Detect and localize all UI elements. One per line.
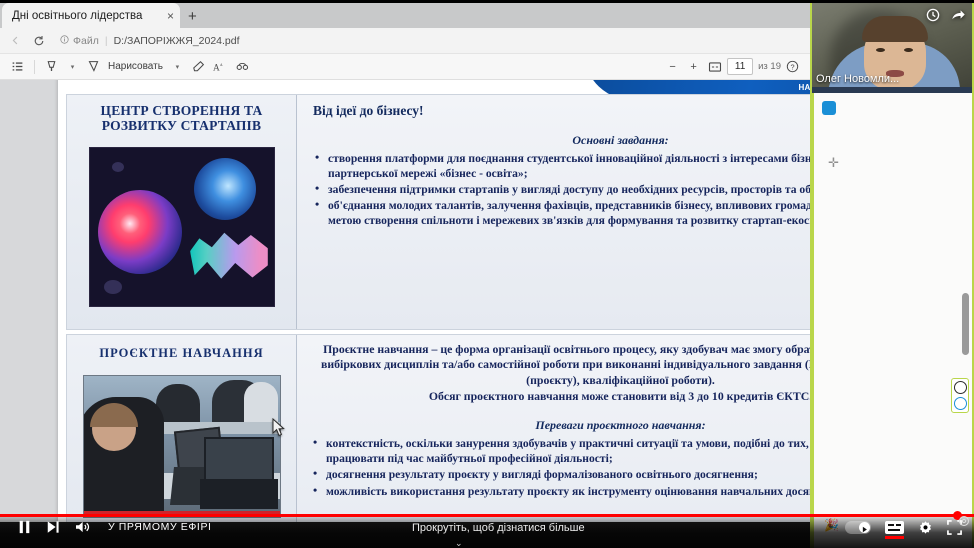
volume-icon[interactable] xyxy=(75,520,91,534)
shared-browser-window: Дні освітнього лідерства × + Файл | xyxy=(0,0,810,522)
progress-bar[interactable] xyxy=(0,514,974,517)
draw-pen-icon[interactable] xyxy=(84,57,103,76)
target-circle-icon[interactable] xyxy=(954,397,967,410)
page-total-label: из 19 xyxy=(758,61,781,72)
new-tab-icon[interactable]: + xyxy=(188,9,197,24)
photo-bg-person-3 xyxy=(244,382,278,422)
participant-eye-left xyxy=(876,48,885,52)
scroll-hint-label: Прокрутіть, щоб дізнатися більше xyxy=(412,522,585,534)
pdf-toolbar-right-group: − + 11 из 19 ? xyxy=(663,57,802,76)
cc-active-underline xyxy=(885,536,904,539)
close-icon[interactable]: × xyxy=(167,10,174,22)
text-size-icon[interactable]: Aᴬ xyxy=(210,57,230,76)
banner-logo-text: НАЦІОНАЛЬНИЙ УНІВЕРСИТЕТ xyxy=(793,84,810,92)
zoom-in-button[interactable]: + xyxy=(684,57,703,76)
settings-gear-icon[interactable] xyxy=(918,520,933,535)
panel-scrollbar[interactable] xyxy=(962,293,969,355)
outline-list-icon[interactable] xyxy=(8,57,27,76)
eraser-icon[interactable] xyxy=(189,57,208,76)
svg-text:ᴬ: ᴬ xyxy=(220,62,223,69)
highlight-icon[interactable] xyxy=(42,57,61,76)
block1-header-cell: ЦЕНТР СТВОРЕННЯ ТА РОЗВИТКУ СТАРТАПІВ xyxy=(67,95,297,329)
art-dust-1 xyxy=(112,162,124,172)
svg-text:?: ? xyxy=(791,62,795,71)
participant-eye-right xyxy=(904,48,913,52)
list-item: досягнення результату проєкту у вигляді … xyxy=(311,467,810,482)
page-number-input[interactable]: 11 xyxy=(727,58,753,75)
move-handle-icon[interactable]: ✛ xyxy=(828,155,839,171)
list-item: контекстність, оскільки занурення здобув… xyxy=(311,436,810,466)
photo-student-hair xyxy=(90,403,138,427)
photo-laptop-2-screen xyxy=(204,437,274,483)
live-badge-label: У ПРЯМОМУ ЕФІРІ xyxy=(108,521,212,533)
art-wave-shape xyxy=(190,226,268,282)
block2-content-cell: Проєктне навчання – це форма організації… xyxy=(297,335,810,522)
cc-line-3 xyxy=(888,529,900,531)
participant-video-tile[interactable]: Олег Новомли... xyxy=(812,0,974,93)
fit-page-icon[interactable] xyxy=(705,57,725,76)
back-arrow-icon[interactable] xyxy=(6,32,24,50)
help-icon[interactable]: ? xyxy=(783,57,802,76)
art-sphere-blue xyxy=(194,158,256,220)
slide-block-project-learning: ПРОЄКТНЕ НАВЧАННЯ xyxy=(66,334,810,522)
file-label-text: Файл xyxy=(73,35,99,47)
autoplay-toggle[interactable] xyxy=(845,521,871,534)
pdf-viewer[interactable]: НАЦІОНАЛЬНИЙ УНІВЕРСИТЕТ ЦЕНТР СТВОРЕННЯ… xyxy=(0,80,810,522)
cc-line-1 xyxy=(888,524,894,526)
block2-title: ПРОЄКТНЕ НАВЧАННЯ xyxy=(67,335,296,361)
subtitles-icon[interactable] xyxy=(885,521,904,534)
draw-chevron-down-icon[interactable]: ▾ xyxy=(168,57,187,76)
app-badge-icon[interactable] xyxy=(822,101,836,115)
player-right-controls xyxy=(845,520,962,535)
block2-bullet-list: контекстність, оскільки занурення здобув… xyxy=(311,436,810,498)
omnibox-separator: | xyxy=(105,35,108,47)
participant-hair xyxy=(862,16,928,42)
art-sphere-pink xyxy=(98,190,182,274)
list-item: створення платформи для поєднання студен… xyxy=(313,151,810,181)
list-item: забезпечення підтримки стартапів у вигля… xyxy=(313,182,810,197)
autoplay-toggle-knob xyxy=(859,522,870,533)
block2-paragraph-1: Проєктне навчання – це форма організації… xyxy=(311,342,810,388)
block1-subtitle: Основні завдання: xyxy=(313,133,810,148)
art-dust-2 xyxy=(104,280,122,294)
video-player-controls: У ПРЯМОМУ ЕФІРІ Прокрутіть, щоб дізнатис… xyxy=(0,514,974,548)
highlight-chevron-down-icon[interactable]: ▾ xyxy=(63,57,82,76)
side-panel-body: ✛ 🎉 xyxy=(814,93,972,548)
svg-text:A: A xyxy=(213,63,220,73)
read-aloud-icon[interactable] xyxy=(232,57,253,76)
clock-icon[interactable] xyxy=(926,8,940,27)
info-icon xyxy=(60,35,69,47)
player-left-controls: У ПРЯМОМУ ЕФІРІ xyxy=(18,520,212,534)
list-item: можливість використання результату проєк… xyxy=(311,484,810,499)
list-item: об'єднання молодих талантів, залучення ф… xyxy=(313,198,810,228)
browser-navbar: Файл | D:/ЗАПОРІЖЖЯ_2024.pdf xyxy=(0,28,810,54)
block2-header-cell: ПРОЄКТНЕ НАВЧАННЯ xyxy=(67,335,297,522)
tab-title: Дні освітнього лідерства xyxy=(12,10,161,22)
address-url: D:/ЗАПОРІЖЖЯ_2024.pdf xyxy=(114,35,240,47)
block1-content-cell: Від ідеї до бізнесу! Основні завдання: с… xyxy=(297,95,810,329)
corner-settings-icon[interactable] xyxy=(958,515,970,530)
pdf-toolbar: ▾ Нарисовать ▾ Aᴬ − + 11 из xyxy=(0,54,810,80)
block1-title: ЦЕНТР СТВОРЕННЯ ТА РОЗВИТКУ СТАРТАПІВ xyxy=(67,95,296,133)
address-bar[interactable]: Файл | D:/ЗАПОРІЖЖЯ_2024.pdf xyxy=(54,31,804,50)
students-laptops-photo xyxy=(83,375,281,518)
block2-subtitle: Переваги проєктного навчання: xyxy=(311,418,810,433)
share-arrow-icon[interactable] xyxy=(951,8,966,27)
zoom-out-button[interactable]: − xyxy=(663,57,682,76)
block1-lead-text: Від ідеї до бізнесу! xyxy=(313,103,810,119)
photo-foreground-student xyxy=(83,397,164,517)
next-track-icon[interactable] xyxy=(46,520,60,534)
block2-paragraph-2: Обсяг проєктного навчання може становити… xyxy=(311,389,810,404)
draw-button[interactable]: Нарисовать xyxy=(105,57,166,76)
block1-bullet-list: створення платформи для поєднання студен… xyxy=(313,151,810,228)
chevron-down-icon[interactable]: ⌄ xyxy=(455,538,463,548)
startup-illustration-image xyxy=(89,147,275,307)
panel-action-buttons xyxy=(951,378,969,413)
toolbar-divider xyxy=(34,60,35,74)
cc-line-2 xyxy=(896,524,901,526)
screen: Дні освітнього лідерства × + Файл | xyxy=(0,0,974,548)
browser-tabstrip: Дні освітнього лідерства × + xyxy=(0,0,810,28)
photo-laptop-2-base xyxy=(200,479,278,509)
participant-name-label: Олег Новомли... xyxy=(812,73,903,85)
slide-block-startup-center: ЦЕНТР СТВОРЕННЯ ТА РОЗВИТКУ СТАРТАПІВ Ві… xyxy=(66,94,810,330)
zoom-side-panel: Олег Новомли... ✛ 🎉 xyxy=(810,0,974,548)
file-scheme-label: Файл xyxy=(60,35,99,47)
reload-icon[interactable] xyxy=(30,32,48,50)
pdf-slide-page: НАЦІОНАЛЬНИЙ УНІВЕРСИТЕТ ЦЕНТР СТВОРЕННЯ… xyxy=(58,80,810,522)
letterbox-top xyxy=(0,0,974,3)
record-circle-icon[interactable] xyxy=(954,381,967,394)
progress-fill xyxy=(0,514,974,517)
pause-icon[interactable] xyxy=(18,520,31,534)
browser-tab[interactable]: Дні освітнього лідерства × xyxy=(2,3,180,28)
